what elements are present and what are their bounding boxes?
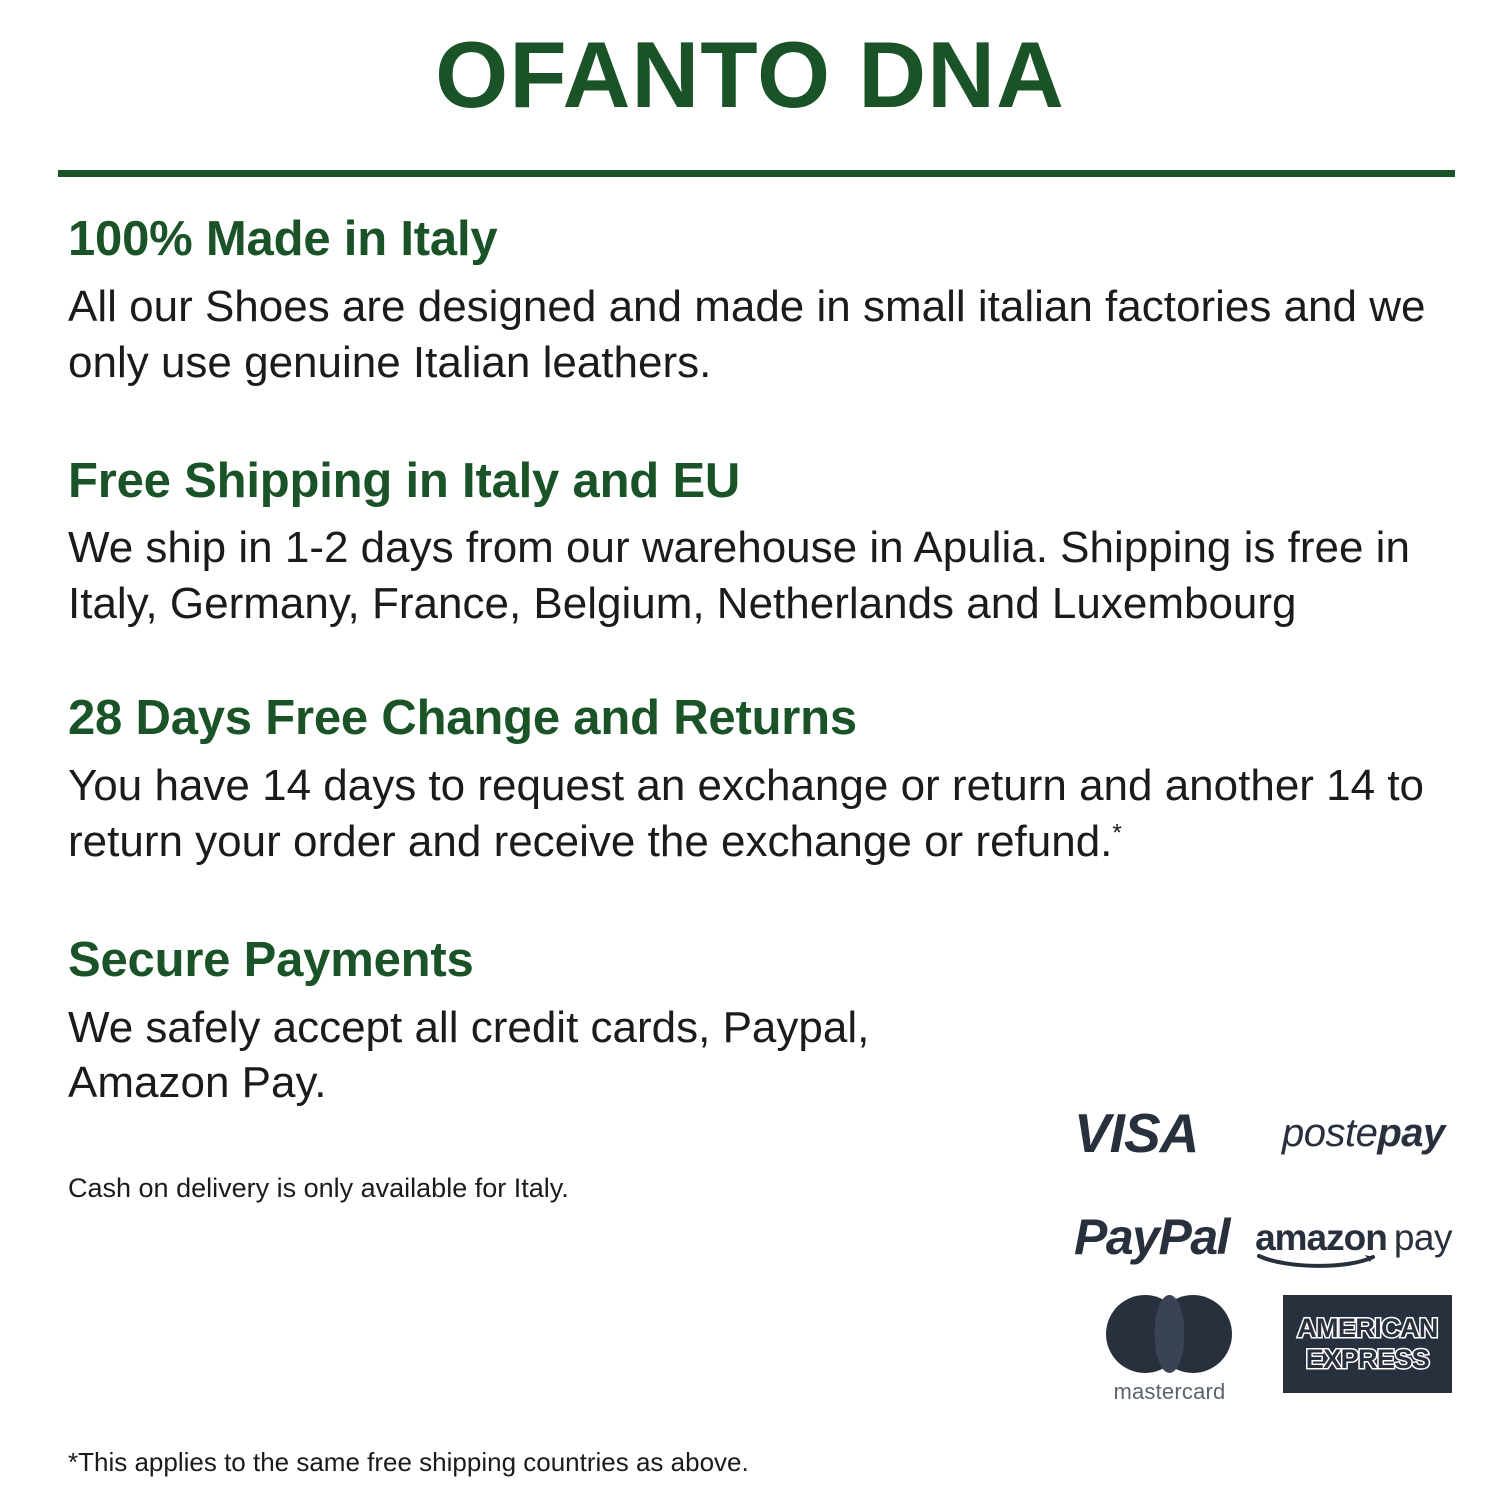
section-body: All our Shoes are designed and made in s… [68,279,1428,391]
postepay-icon: postepay [1282,1111,1445,1156]
amazon-pay-word: pay [1394,1217,1452,1258]
content-area: 100% Made in Italy All our Shoes are des… [0,211,1500,1206]
mastercard-label: mastercard [1084,1379,1255,1405]
section-heading: Secure Payments [68,932,968,990]
section-heading: Free Shipping in Italy and EU [68,453,1500,511]
section-heading: 28 Days Free Change and Returns [68,690,1500,748]
payment-logos: VISA postepay PayPal amazonpay masterc [1052,1085,1452,1413]
returns-footnote-marker: * [1112,819,1121,846]
secure-payments-text: Secure Payments We safely accept all cre… [68,932,968,1207]
paypal-icon: PayPal [1074,1208,1247,1266]
section-made-in-italy: 100% Made in Italy All our Shoes are des… [68,211,1500,391]
ofanto-dna-info-panel: OFANTO DNA 100% Made in Italy All our Sh… [0,0,1500,1500]
amazon-wordmark: amazon [1255,1217,1387,1258]
payment-logo-row: mastercard AMERICAN EXPRESS [1052,1295,1452,1413]
footnote: *This applies to the same free shipping … [68,1447,749,1478]
mastercard-circles [1106,1295,1232,1373]
section-body: We safely accept all credit cards, Paypa… [68,1000,968,1112]
section-free-shipping: Free Shipping in Italy and EU We ship in… [68,453,1500,633]
american-express-icon: AMERICAN EXPRESS [1283,1295,1452,1393]
amazon-pay-icon: amazonpay [1255,1219,1452,1256]
mastercard-overlap [1154,1295,1184,1373]
spacer [68,391,1500,453]
amex-line-2: EXPRESS [1306,1344,1429,1375]
cash-on-delivery-note: Cash on delivery is only available for I… [68,1171,968,1206]
section-body-text: You have 14 days to request an exchange … [68,761,1424,866]
header-divider [58,170,1455,177]
visa-icon: VISA [1074,1101,1274,1165]
payment-logo-row: PayPal amazonpay [1052,1189,1452,1285]
spacer [68,870,1500,932]
section-body: You have 14 days to request an exchange … [68,758,1428,870]
page-title: OFANTO DNA [0,0,1500,122]
section-returns: 28 Days Free Change and Returns You have… [68,690,1500,870]
section-heading: 100% Made in Italy [68,211,1500,269]
postepay-part1: poste [1282,1111,1377,1155]
spacer [68,632,1500,690]
amazon-smile-icon [1257,1253,1379,1269]
amex-line-1: AMERICAN [1297,1313,1438,1344]
postepay-part2: pay [1377,1111,1444,1155]
payment-logo-row: VISA postepay [1052,1085,1452,1181]
section-body: We ship in 1-2 days from our warehouse i… [68,520,1428,632]
mastercard-icon: mastercard [1084,1295,1255,1405]
